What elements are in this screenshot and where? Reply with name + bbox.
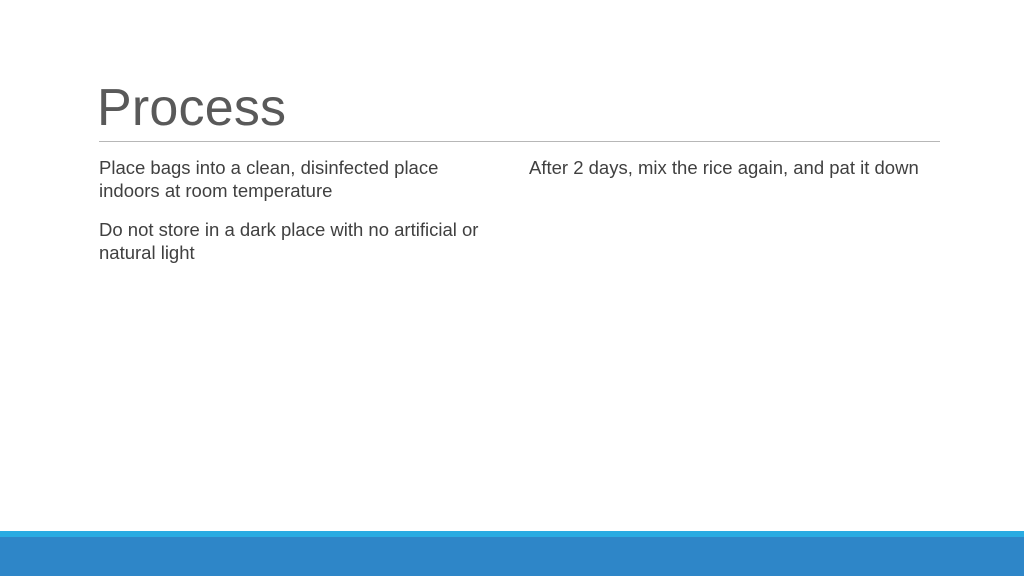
- content-column-left: Place bags into a clean, disinfected pla…: [99, 156, 529, 264]
- slide-content: Place bags into a clean, disinfected pla…: [99, 156, 940, 264]
- body-paragraph: After 2 days, mix the rice again, and pa…: [529, 156, 940, 179]
- content-column-right: After 2 days, mix the rice again, and pa…: [529, 156, 940, 179]
- presentation-slide: Process Place bags into a clean, disinfe…: [0, 0, 1024, 576]
- page-title: Process: [97, 78, 286, 138]
- footer-band: [0, 537, 1024, 576]
- body-paragraph: Do not store in a dark place with no art…: [99, 218, 489, 264]
- body-paragraph: Place bags into a clean, disinfected pla…: [99, 156, 489, 202]
- title-divider: [99, 141, 940, 142]
